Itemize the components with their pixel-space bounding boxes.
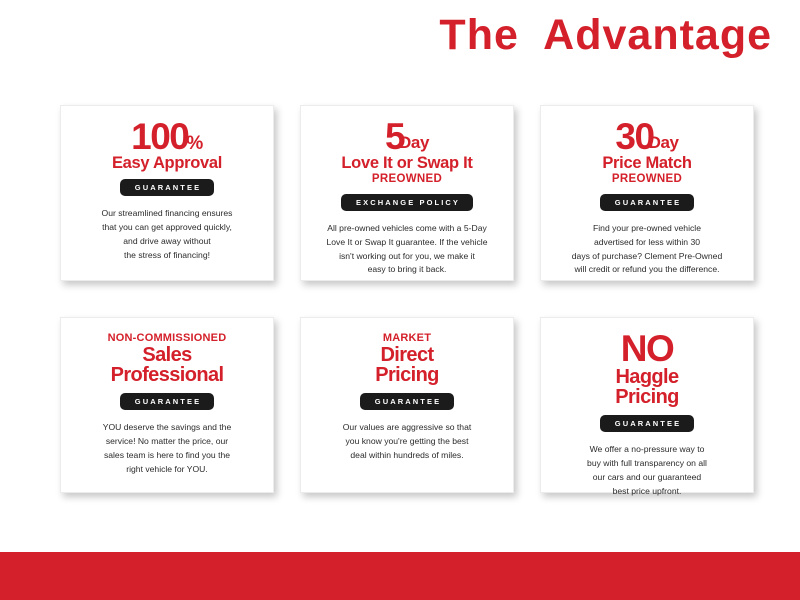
card-headline: 100%Easy Approval xyxy=(73,120,261,172)
card-headline: NOHaggle Pricing xyxy=(553,332,741,408)
card-body-copy: Find your pre-owned vehicle advertised f… xyxy=(553,222,741,278)
card-badge: GUARANTEE xyxy=(600,194,694,211)
page-title: The Advantage xyxy=(439,12,772,59)
card-badge: GUARANTEE xyxy=(600,415,694,432)
card-headline: 5DayLove It or Swap ItPREOWNED xyxy=(313,120,501,187)
card-hero-suffix: Day xyxy=(399,135,429,151)
card-eyebrow: NON-COMMISSIONED xyxy=(73,332,261,344)
advantage-card[interactable]: 30DayPrice MatchPREOWNEDGUARANTEEFind yo… xyxy=(540,105,754,281)
card-tagline: PREOWNED xyxy=(553,173,741,187)
card-sub-line: Easy Approval xyxy=(73,155,261,172)
advantage-card-grid: 100%Easy ApprovalGUARANTEEOur streamline… xyxy=(60,105,754,493)
card-body-copy: All pre-owned vehicles come with a 5-Day… xyxy=(313,222,501,278)
advantage-card[interactable]: NON-COMMISSIONEDSales ProfessionalGUARAN… xyxy=(60,317,274,493)
card-sub-line: Price Match xyxy=(553,155,741,172)
card-badge: GUARANTEE xyxy=(360,393,454,410)
card-body-copy: Our values are aggressive so that you kn… xyxy=(313,421,501,463)
card-hero-main: 100 xyxy=(131,120,188,154)
advantage-card[interactable]: 5DayLove It or Swap ItPREOWNEDEXCHANGE P… xyxy=(300,105,514,281)
card-eyebrow: MARKET xyxy=(313,332,501,344)
card-body-copy: Our streamlined financing ensures that y… xyxy=(73,207,261,263)
advantage-card[interactable]: MARKETDirect PricingGUARANTEEOur values … xyxy=(300,317,514,493)
card-hero-suffix: Day xyxy=(649,135,679,151)
card-sub-line: Sales Professional xyxy=(73,345,261,386)
card-body-copy: We offer a no-pressure way to buy with f… xyxy=(553,443,741,499)
card-sub-line: Haggle Pricing xyxy=(553,367,741,408)
card-headline: MARKETDirect Pricing xyxy=(313,332,501,386)
card-hero-line: NO xyxy=(553,332,741,366)
card-sub-line: Love It or Swap It xyxy=(313,155,501,172)
card-hero-line: 100% xyxy=(73,120,261,154)
card-badge: GUARANTEE xyxy=(120,179,214,196)
card-headline: NON-COMMISSIONEDSales Professional xyxy=(73,332,261,386)
card-hero-main: NO xyxy=(621,332,674,366)
footer-accent-bar xyxy=(0,552,800,600)
card-tagline: PREOWNED xyxy=(313,173,501,187)
card-body-copy: YOU deserve the savings and the service!… xyxy=(73,421,261,477)
card-sub-line: Direct Pricing xyxy=(313,345,501,386)
card-hero-line: 30Day xyxy=(553,120,741,154)
card-hero-line: 5Day xyxy=(313,120,501,154)
page-header: The Advantage xyxy=(0,0,800,78)
advantage-card[interactable]: NOHaggle PricingGUARANTEEWe offer a no-p… xyxy=(540,317,754,493)
card-badge: GUARANTEE xyxy=(120,393,214,410)
card-headline: 30DayPrice MatchPREOWNED xyxy=(553,120,741,187)
advantage-page: The Advantage 100%Easy ApprovalGUARANTEE… xyxy=(0,0,800,600)
card-badge: EXCHANGE POLICY xyxy=(341,194,473,211)
advantage-card[interactable]: 100%Easy ApprovalGUARANTEEOur streamline… xyxy=(60,105,274,281)
card-hero-suffix: % xyxy=(186,135,203,152)
